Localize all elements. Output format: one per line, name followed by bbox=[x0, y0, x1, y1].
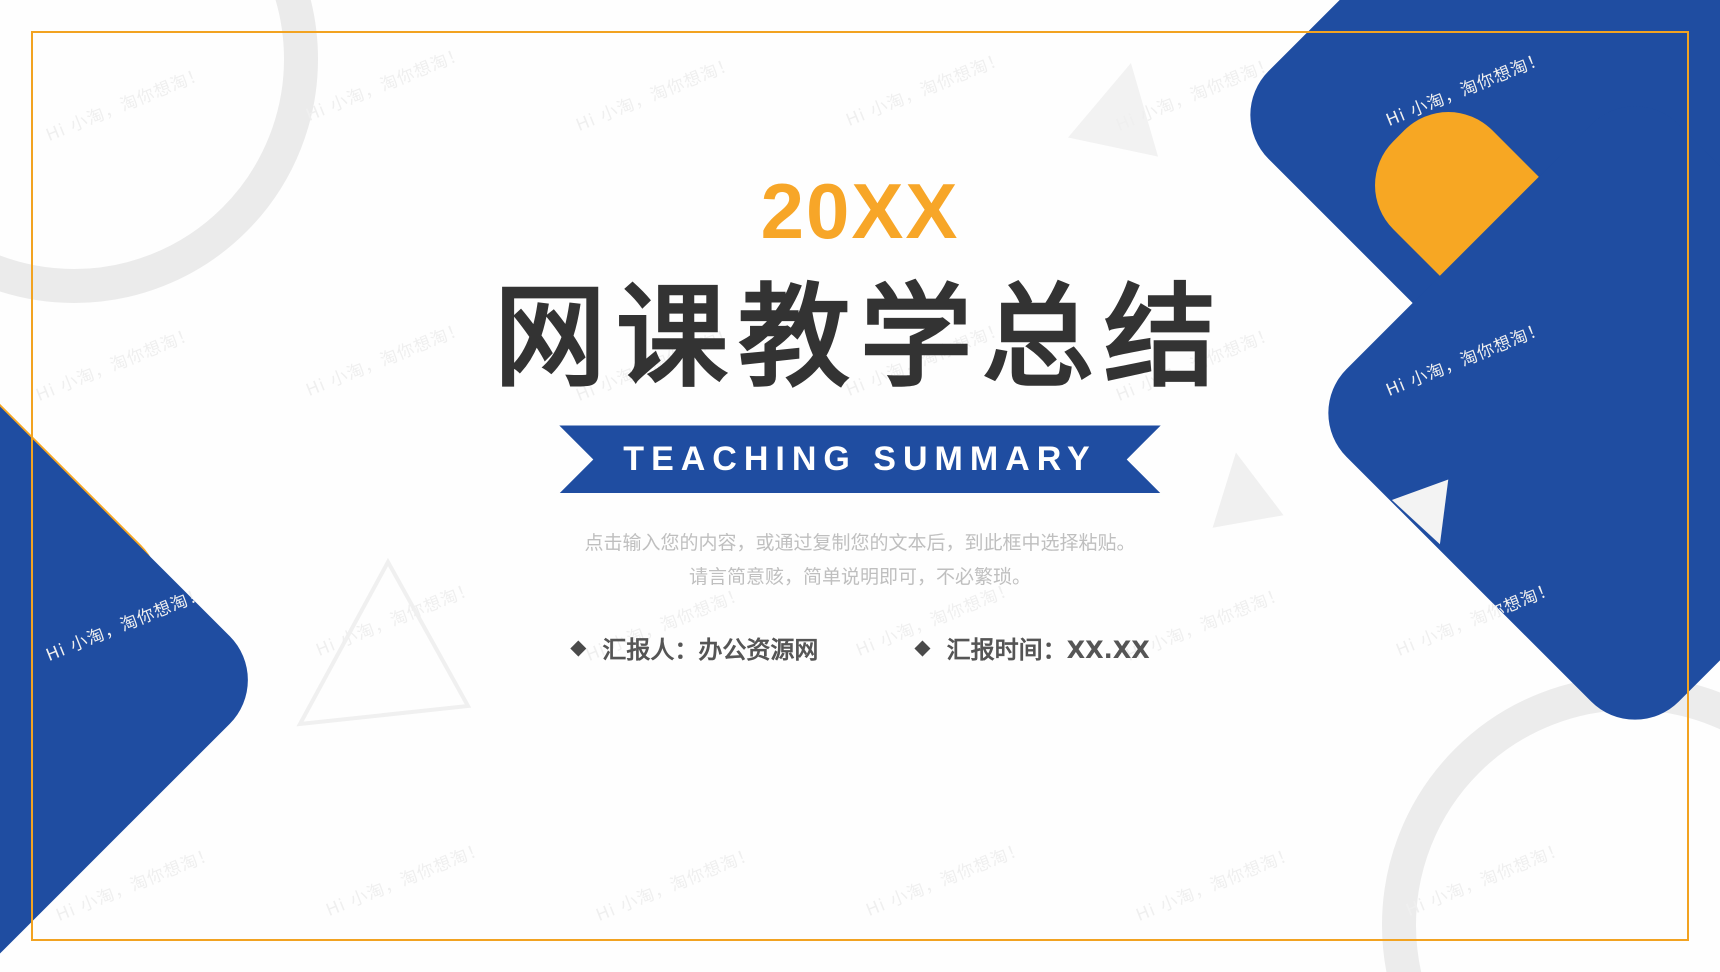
meta-row: ◆ 汇报人：办公资源网 ◆ 汇报时间：XX.XX bbox=[570, 630, 1149, 665]
year-label: 20XX bbox=[761, 172, 960, 250]
subtitle-ribbon: TEACHING SUMMARY bbox=[559, 425, 1160, 493]
diamond-bullet-icon: ◆ bbox=[570, 637, 586, 658]
meta-item-date: ◆ 汇报时间：XX.XX bbox=[914, 630, 1149, 665]
slide-content: 20XX 网课教学总结 TEACHING SUMMARY 点击输入您的内容，或通… bbox=[0, 0, 1720, 972]
subtitle-english: TEACHING SUMMARY bbox=[623, 440, 1096, 479]
date-label: 汇报时间：XX.XX bbox=[947, 630, 1150, 665]
description-line-2: 请言简意赅，简单说明即可，不必繁琐。 bbox=[584, 561, 1135, 594]
description-block: 点击输入您的内容，或通过复制您的文本后，到此框中选择粘贴。 请言简意赅，简单说明… bbox=[584, 527, 1135, 594]
diamond-bullet-icon: ◆ bbox=[914, 637, 930, 658]
description-line-1: 点击输入您的内容，或通过复制您的文本后，到此框中选择粘贴。 bbox=[584, 527, 1135, 560]
page-title: 网课教学总结 bbox=[494, 276, 1226, 401]
meta-item-presenter: ◆ 汇报人：办公资源网 bbox=[570, 630, 818, 665]
presenter-label: 汇报人：办公资源网 bbox=[602, 630, 818, 665]
presentation-slide: Hi 小淘，淘你想淘！ Hi 小淘，淘你想淘！ Hi 小淘，淘你想淘！ Hi 小… bbox=[0, 0, 1720, 972]
